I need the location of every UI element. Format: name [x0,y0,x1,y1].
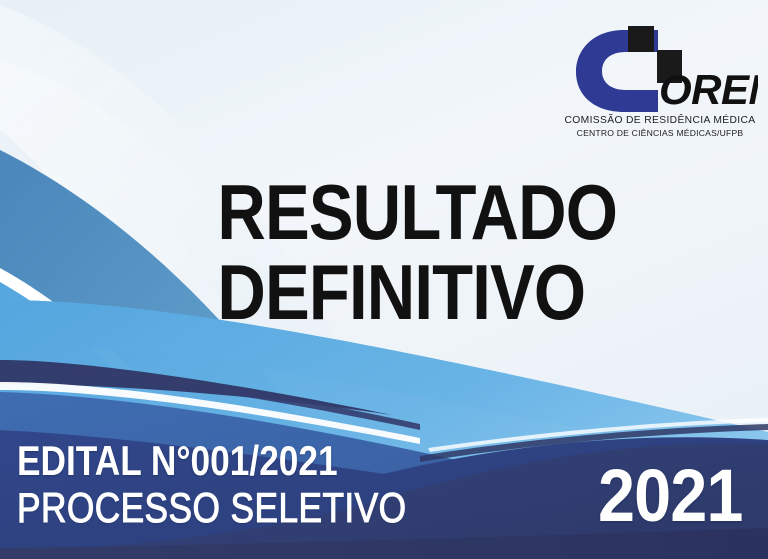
headline-line-2: DEFINITIVO [217,252,578,332]
logo-subtitle-line1: COMISSÃO DE RESIDÊNCIA MÉDICA [562,115,758,126]
year-badge: 2021 [598,459,743,533]
logo-wordmark: OREME [659,66,758,113]
logo-subtitle-line2: CENTRO DE CIÊNCIAS MÉDICAS/UFPB [562,128,758,138]
banner-edital-number: EDITAL N°001/2021 [17,438,387,484]
logo-square-upper [628,26,654,52]
banner-processo-seletivo: PROCESSO SELETIVO [17,484,387,532]
coreme-logo: OREME COMISSÃO DE RESIDÊNCIA MÉDICA CENT… [562,22,758,142]
headline-block: RESULTADO DEFINITIVO [188,172,608,332]
headline-line-1: RESULTADO [217,172,578,252]
banner-block: EDITAL N°001/2021 PROCESSO SELETIVO [17,438,457,532]
coreme-logo-mark: OREME [562,22,758,114]
poster-canvas: OREME COMISSÃO DE RESIDÊNCIA MÉDICA CENT… [0,0,768,559]
